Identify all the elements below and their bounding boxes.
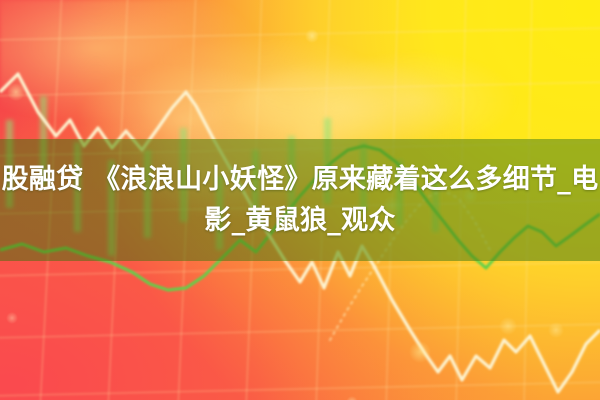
headline-line-2: 影_黄鼠狼_观众	[204, 200, 395, 241]
headline-line-1: 股融贷 《浪浪山小妖怪》原来藏着这么多细节_电	[2, 159, 599, 200]
headline-text: 股融贷 《浪浪山小妖怪》原来藏着这么多细节_电 影_黄鼠狼_观众	[0, 139, 600, 261]
thumbnail-banner: 股融贷 《浪浪山小妖怪》原来藏着这么多细节_电 影_黄鼠狼_观众	[0, 0, 600, 400]
